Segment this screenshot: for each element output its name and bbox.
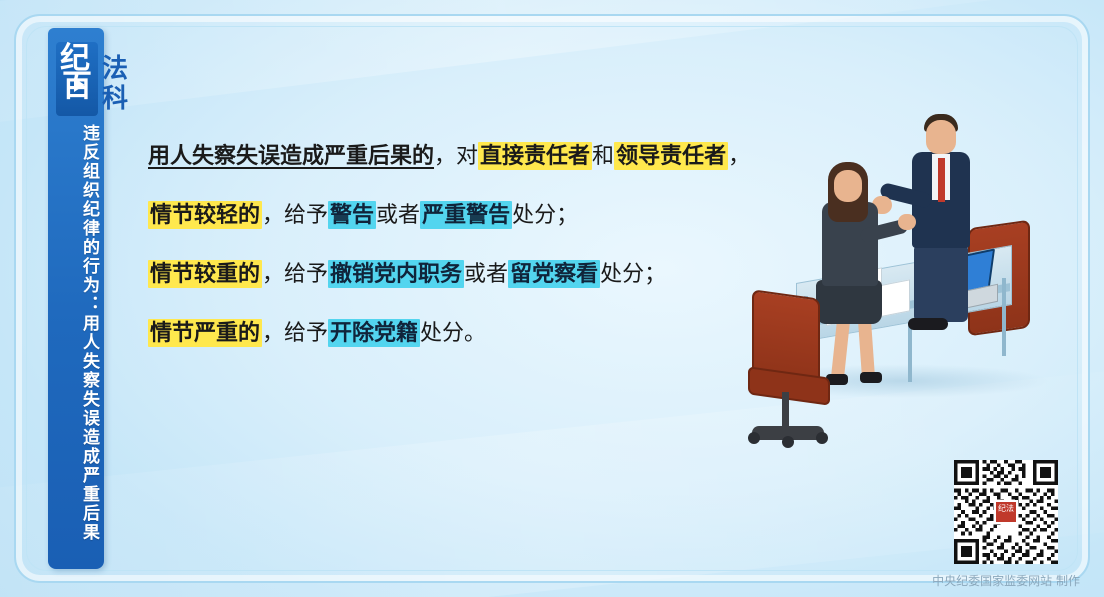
chair-caster-3	[816, 432, 828, 444]
line2-seg4: 或者	[376, 203, 420, 228]
man-head	[926, 120, 956, 154]
line4-seg3: 开除党籍	[328, 319, 420, 347]
woman-leg-2	[858, 322, 875, 377]
line1-seg1: 用人失察失误造成严重后果的	[148, 143, 434, 169]
logo-char-ke: 科	[102, 86, 128, 112]
line2-seg6: 处分；	[512, 203, 578, 228]
text-line-3: 情节较重的，给予撤销党内职务或者留党察看处分；	[148, 258, 808, 291]
main-text-block: 用人失察失误造成严重后果的，对直接责任者和领导责任者， 情节较轻的，给予警告或者…	[148, 140, 808, 376]
chair-caster-2	[782, 436, 794, 448]
line1-seg3: 直接责任者	[478, 142, 592, 170]
office-handshake-illustration	[730, 96, 1070, 426]
desk-leg-2	[1002, 278, 1006, 356]
line4-seg2: ，给予	[262, 321, 328, 346]
man-tie	[938, 158, 945, 202]
man-legs	[914, 244, 968, 322]
woman-head	[834, 170, 862, 202]
line3-seg6: 处分；	[600, 262, 666, 287]
line4-seg1: 情节严重的	[148, 319, 262, 347]
brand-logo: 纪 百 法 科	[56, 42, 146, 120]
woman-hand	[898, 214, 916, 230]
line3-seg1: 情节较重的	[148, 260, 262, 288]
qr-code[interactable]: 纪法	[954, 460, 1058, 564]
poster-canvas: 纪 百 法 科 违反组织纪律的行为：用人失察失误造成严重后果 用人失察失误造成严…	[0, 0, 1104, 597]
qr-center-logo: 纪法	[994, 500, 1018, 524]
desk-leg-3	[908, 322, 912, 382]
man-shoes	[908, 318, 948, 330]
text-line-2: 情节较轻的，给予警告或者严重警告处分；	[148, 199, 808, 232]
woman-shoe-2	[860, 372, 882, 383]
line3-seg2: ，给予	[262, 262, 328, 287]
chair-caster-1	[748, 432, 760, 444]
line1-seg2: ，对	[434, 144, 478, 169]
play-triangle-icon	[74, 78, 85, 92]
text-line-1: 用人失察失误造成严重后果的，对直接责任者和领导责任者，	[148, 140, 808, 173]
woman-skirt	[816, 280, 882, 324]
line2-seg3: 警告	[328, 201, 376, 229]
footer-credit: 中央纪委国家监委网站 制作	[900, 572, 1080, 589]
line3-seg5: 留党察看	[508, 260, 600, 288]
line3-seg3: 撤销党内职务	[328, 260, 464, 288]
banner-vertical-title: 违反组织纪律的行为：用人失察失误造成严重后果	[48, 122, 104, 562]
logo-char-fa: 法	[102, 56, 128, 82]
line1-seg4: 和	[592, 144, 614, 169]
line3-seg4: 或者	[464, 262, 508, 287]
line1-seg5: 领导责任者	[614, 142, 728, 170]
line2-seg1: 情节较轻的	[148, 201, 262, 229]
line2-seg2: ，给予	[262, 203, 328, 228]
line4-seg4: 处分。	[420, 321, 486, 346]
line2-seg5: 严重警告	[420, 201, 512, 229]
text-line-4: 情节严重的，给予开除党籍处分。	[148, 317, 808, 350]
